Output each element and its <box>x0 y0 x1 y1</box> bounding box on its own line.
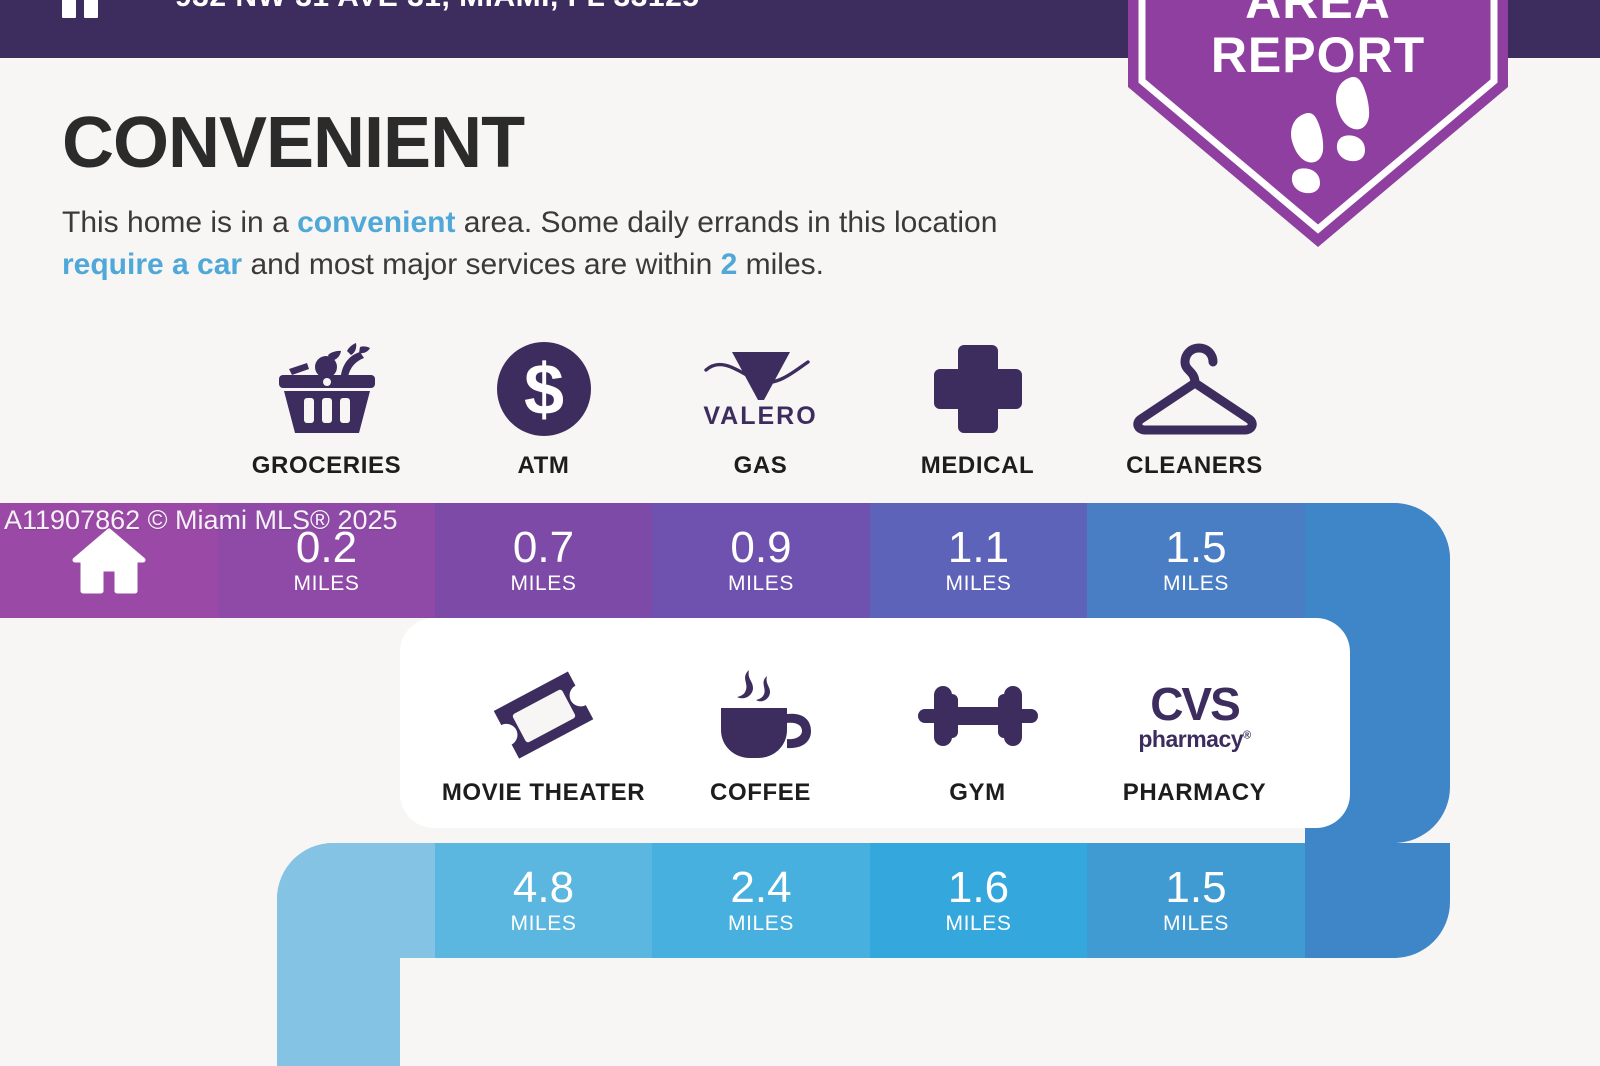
distance-value: 1.1 <box>948 525 1009 571</box>
distance-unit: MILES <box>1163 911 1229 937</box>
amenity-gym: GYM <box>869 665 1086 807</box>
amenity-cleaners: CLEANERS <box>1086 338 1303 480</box>
home-icon <box>72 528 146 594</box>
amenity-groceries: GROCERIES <box>218 338 435 480</box>
distance-cell-gas: 0.9 MILES <box>652 503 870 618</box>
cvs-wordmark: CVS <box>1150 681 1239 727</box>
distance-unit: MILES <box>1163 571 1229 597</box>
distance-cell-cleaners: 1.5 MILES <box>1087 503 1305 618</box>
distance-unit: MILES <box>728 911 794 937</box>
distance-value: 1.6 <box>948 865 1009 911</box>
mls-watermark: A11907862 © Miami MLS® 2025 <box>4 505 398 536</box>
distance-cell-gym: 1.6 MILES <box>870 843 1087 958</box>
distance-value: 1.5 <box>1165 865 1226 911</box>
amenity-label: CLEANERS <box>1126 452 1263 480</box>
amenity-row-2: MOVIE THEATER COFFEE GYM <box>435 665 1303 807</box>
amenity-label: MOVIE THEATER <box>442 779 645 807</box>
cvs-subbrand: pharmacy® <box>1138 728 1250 751</box>
distance-unit: MILES <box>510 911 576 937</box>
amenity-atm: $ ATM <box>435 338 652 480</box>
distance-cell-pharmacy: 1.5 MILES <box>1087 843 1305 958</box>
amenity-pharmacy: CVS pharmacy® PHARMACY <box>1086 665 1303 807</box>
distance-value: 0.9 <box>730 525 791 571</box>
distance-bar-row-2: 4.8 MILES 2.4 MILES 1.6 MILES 1.5 MILES <box>277 843 1450 958</box>
cvs-pharmacy-icon: CVS pharmacy® <box>1138 665 1250 767</box>
amenity-gas: VALERO GAS <box>652 338 869 480</box>
amenity-coffee: COFFEE <box>652 665 869 807</box>
distance-unit: MILES <box>293 571 359 597</box>
movie-ticket-icon <box>492 665 596 767</box>
clothes-hanger-icon <box>1131 338 1259 440</box>
svg-text:$: $ <box>523 350 563 430</box>
distance-value: 2.4 <box>730 865 791 911</box>
amenity-movie-theater: MOVIE THEATER <box>435 665 652 807</box>
distance-unit: MILES <box>945 571 1011 597</box>
distance-cell-coffee: 2.4 MILES <box>652 843 870 958</box>
amenity-label: GROCERIES <box>252 452 401 480</box>
ribbon-tail-row-2 <box>1305 843 1450 958</box>
amenity-label: MEDICAL <box>921 452 1035 480</box>
amenity-label: GYM <box>949 779 1005 807</box>
valero-logo-icon: VALERO <box>702 338 820 440</box>
ribbon-tail-row-1 <box>1305 503 1450 618</box>
grocery-basket-icon <box>271 338 383 440</box>
medical-cross-icon <box>930 338 1026 440</box>
coffee-cup-icon <box>709 665 813 767</box>
amenity-row-1: GROCERIES $ ATM VALERO GAS <box>218 338 1303 480</box>
distance-cell-movie-theater: 4.8 MILES <box>435 843 652 958</box>
amenity-medical: MEDICAL <box>869 338 1086 480</box>
dumbbell-icon <box>918 665 1038 767</box>
dollar-circle-icon: $ <box>495 338 593 440</box>
amenity-label: COFFEE <box>710 779 811 807</box>
area-report-badge: AREA REPORT <box>1128 0 1508 252</box>
distance-value: 4.8 <box>513 865 574 911</box>
ribbon-head-row-2 <box>277 843 435 958</box>
badge-shield-shape <box>1128 0 1508 252</box>
distance-unit: MILES <box>510 571 576 597</box>
distance-value: 0.7 <box>513 525 574 571</box>
amenity-label: ATM <box>517 452 569 480</box>
distance-unit: MILES <box>728 571 794 597</box>
distance-cell-medical: 1.1 MILES <box>870 503 1087 618</box>
distance-value: 1.5 <box>1165 525 1226 571</box>
amenity-label: PHARMACY <box>1123 779 1266 807</box>
distance-unit: MILES <box>945 911 1011 937</box>
distance-cell-atm: 0.7 MILES <box>435 503 652 618</box>
amenity-label: GAS <box>734 452 788 480</box>
valero-wordmark: VALERO <box>703 402 817 431</box>
